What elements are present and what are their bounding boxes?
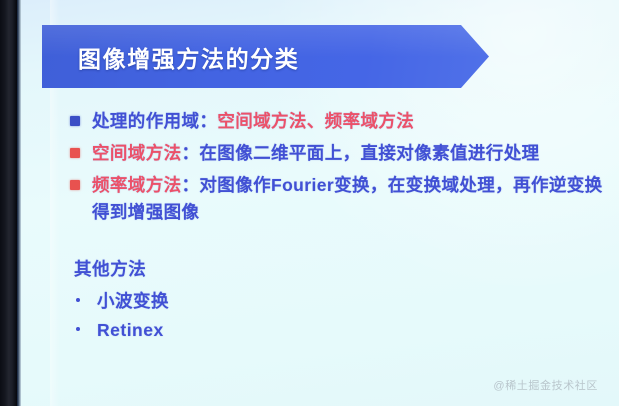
spacer — [70, 232, 615, 256]
bullet-segment-highlight: 空间域方法、频率域方法 — [217, 111, 414, 131]
bullet-item: 处理的作用域：空间域方法、频率域方法 — [70, 108, 615, 135]
device-bezel-edge — [17, 0, 21, 406]
bullet-text: 空间域方法：在图像二维平面上，直接对像素值进行处理 — [92, 140, 540, 167]
dot-marker-icon — [76, 327, 80, 331]
page-title: 图像增强方法的分类 — [78, 40, 299, 74]
red-square-marker-icon — [70, 180, 80, 190]
list-item-label: Retinex — [97, 320, 164, 341]
bullet-text: 频率域方法：对图像作Fourier变换，在变换域处理，再作逆变换得到增强图像 — [92, 172, 615, 226]
bullet-segment-highlight: 空间域方法 — [92, 143, 182, 163]
bullet-segment-label: 处理的作用域： — [92, 111, 217, 131]
slide-body: 处理的作用域：空间域方法、频率域方法 空间域方法：在图像二维平面上，直接对像素值… — [70, 108, 615, 341]
slide-canvas: 图像增强方法的分类 处理的作用域：空间域方法、频率域方法 空间域方法：在图像二维… — [21, 0, 619, 406]
slide-title-banner: 图像增强方法的分类 — [42, 25, 489, 88]
presentation-screenshot: 图像增强方法的分类 处理的作用域：空间域方法、频率域方法 空间域方法：在图像二维… — [0, 0, 619, 406]
bullet-text: 处理的作用域：空间域方法、频率域方法 — [92, 108, 414, 135]
dot-marker-icon — [76, 298, 80, 302]
watermark: @稀土掘金技术社区 — [493, 377, 598, 393]
bullet-segment-label: ：在图像二维平面上，直接对像素值进行处理 — [182, 143, 540, 163]
blue-square-marker-icon — [70, 116, 80, 126]
list-item: Retinex — [76, 320, 615, 341]
device-bezel — [0, 0, 17, 406]
list-item-label: 小波变换 — [97, 288, 169, 313]
bullet-item: 空间域方法：在图像二维平面上，直接对像素值进行处理 — [70, 140, 615, 167]
red-square-marker-icon — [70, 148, 80, 158]
other-methods-heading: 其他方法 — [74, 256, 615, 281]
bullet-item: 频率域方法：对图像作Fourier变换，在变换域处理，再作逆变换得到增强图像 — [70, 172, 615, 226]
bullet-segment-highlight: 频率域方法 — [92, 175, 182, 195]
list-item: 小波变换 — [76, 288, 615, 313]
